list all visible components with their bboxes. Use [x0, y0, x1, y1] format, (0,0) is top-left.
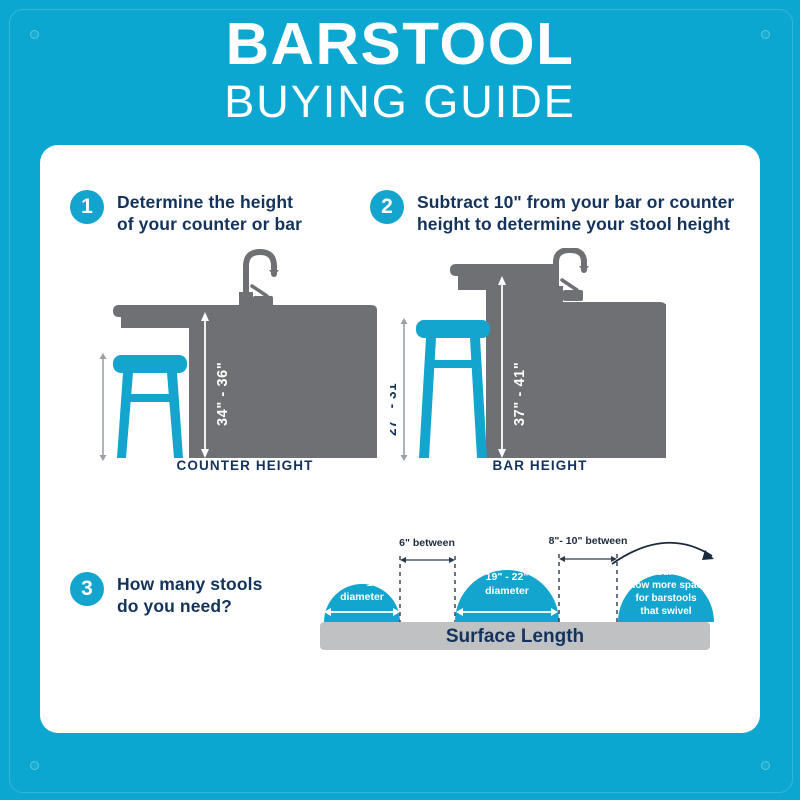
step-2: 2 Subtract 10" from your bar or counter … — [370, 190, 734, 236]
step-2-number: 2 — [370, 190, 404, 224]
stool-circle-swivel: Be sure to allow more space for barstool… — [618, 567, 714, 622]
swivel-note-line2: allow more space — [624, 580, 708, 591]
step-3-label: How many stools do you need? — [117, 572, 262, 618]
header: BARSTOOL BUYING GUIDE — [0, 0, 800, 140]
stool-small-diameter-line2: diameter — [340, 591, 384, 603]
step-1-number: 1 — [70, 190, 104, 224]
stool-circle-large: 19" - 22" diameter — [455, 570, 559, 622]
step-3: 3 How many stools do you need? — [70, 572, 262, 618]
bar-stool-height-dimension — [401, 318, 408, 461]
faucet-icon — [239, 252, 279, 308]
step-1: 1 Determine the height of your counter o… — [70, 190, 302, 236]
bar-surface-height-label: 37" - 41" — [512, 362, 528, 426]
stool-large-diameter-line2: diameter — [485, 585, 529, 597]
stool-height-dimension — [100, 353, 107, 461]
diagram-bar-height: 27" - 31" 37" - 41" — [390, 248, 690, 480]
screw-icon-bottom-right — [761, 761, 770, 770]
counter-surface-height-label: 34" - 36" — [215, 362, 231, 426]
gap-small-label: 6" between — [399, 537, 455, 549]
gap-small: 6" between — [399, 537, 455, 622]
stool-icon-bar — [416, 320, 490, 458]
gap-large-label: 8"- 10" between — [549, 535, 628, 547]
step-2-label: Subtract 10" from your bar or counter he… — [417, 190, 734, 236]
caption-bar-height: BAR HEIGHT — [390, 458, 690, 473]
infographic-root: BARSTOOL BUYING GUIDE 1 Determine the he… — [0, 0, 800, 800]
counter-stool-height-label: 24" - 26" — [95, 383, 98, 443]
stool-small-diameter-line1: 16" - 18" — [341, 577, 384, 589]
step-3-number: 3 — [70, 572, 104, 606]
bar-stool-height-label: 27" - 31" — [390, 376, 399, 436]
diagram-stool-spacing: Surface Length 16" - 18" diameter 6" bet… — [300, 528, 720, 663]
caption-counter-height: COUNTER HEIGHT — [95, 458, 395, 473]
stool-icon-counter — [113, 355, 187, 458]
surface-length-label: Surface Length — [446, 626, 584, 647]
swivel-note-line4: that swivel — [640, 606, 691, 617]
swivel-note-line1: Be sure to — [642, 567, 691, 578]
swivel-note-line3: for barstools — [635, 593, 697, 604]
page-title: BARSTOOL — [226, 16, 575, 72]
screw-icon-bottom-left — [30, 761, 39, 770]
stool-circle-small: 16" - 18" diameter — [324, 577, 400, 622]
diagram-counter-height: 24" - 26" 34" - 36" — [95, 248, 395, 480]
step-1-label: Determine the height of your counter or … — [117, 190, 302, 236]
page-subtitle: BUYING GUIDE — [224, 79, 576, 124]
counter-body — [113, 305, 377, 458]
gap-large: 8"- 10" between — [549, 535, 628, 622]
stool-large-diameter-line1: 19" - 22" — [486, 571, 529, 583]
